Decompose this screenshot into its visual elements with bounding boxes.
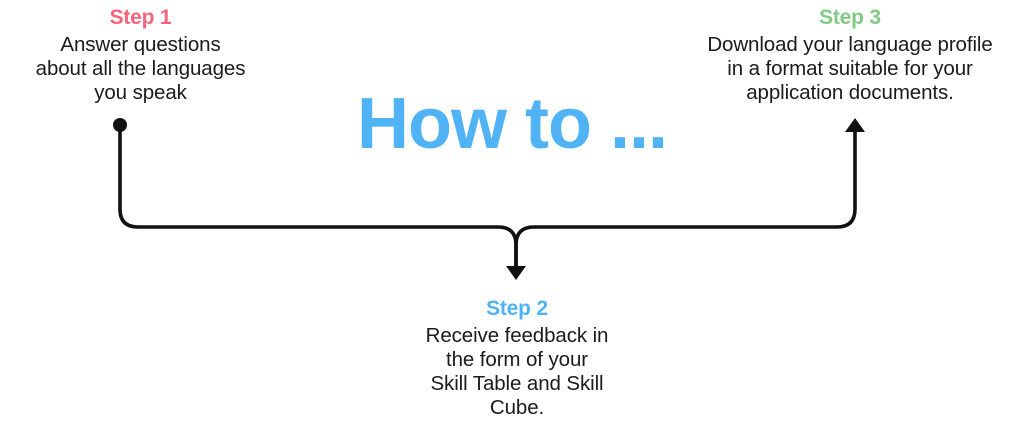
step-1-body: Answer questions about all the languages… bbox=[8, 33, 273, 105]
step-2-heading: Step 2 bbox=[383, 297, 651, 322]
step-2-block: Step 2 Receive feedback in the form of y… bbox=[383, 297, 651, 420]
step-3-heading: Step 3 bbox=[690, 6, 1010, 31]
step-3-line-1: Download your language profile bbox=[690, 33, 1010, 57]
step-2-line-3: Skill Table and Skill bbox=[383, 372, 651, 396]
step-1-line-2: about all the languages bbox=[8, 57, 273, 81]
step-2-body: Receive feedback in the form of your Ski… bbox=[383, 324, 651, 420]
step-3-line-2: in a format suitable for your bbox=[690, 57, 1010, 81]
step-1-block: Step 1 Answer questions about all the la… bbox=[8, 6, 273, 105]
how-to-infographic: How to ... Step 1 Answer questions about… bbox=[0, 0, 1024, 421]
step-1-line-3: you speak bbox=[8, 81, 273, 105]
step-2-line-2: the form of your bbox=[383, 348, 651, 372]
step-2-line-4: Cube. bbox=[383, 396, 651, 420]
step-3-block: Step 3 Download your language profile in… bbox=[690, 6, 1010, 105]
step-3-body: Download your language profile in a form… bbox=[690, 33, 1010, 105]
step-2-line-1: Receive feedback in bbox=[383, 324, 651, 348]
step-1-line-1: Answer questions bbox=[8, 33, 273, 57]
arrow-down-icon bbox=[506, 266, 526, 280]
step-3-line-3: application documents. bbox=[690, 81, 1010, 105]
step-1-heading: Step 1 bbox=[8, 6, 273, 31]
